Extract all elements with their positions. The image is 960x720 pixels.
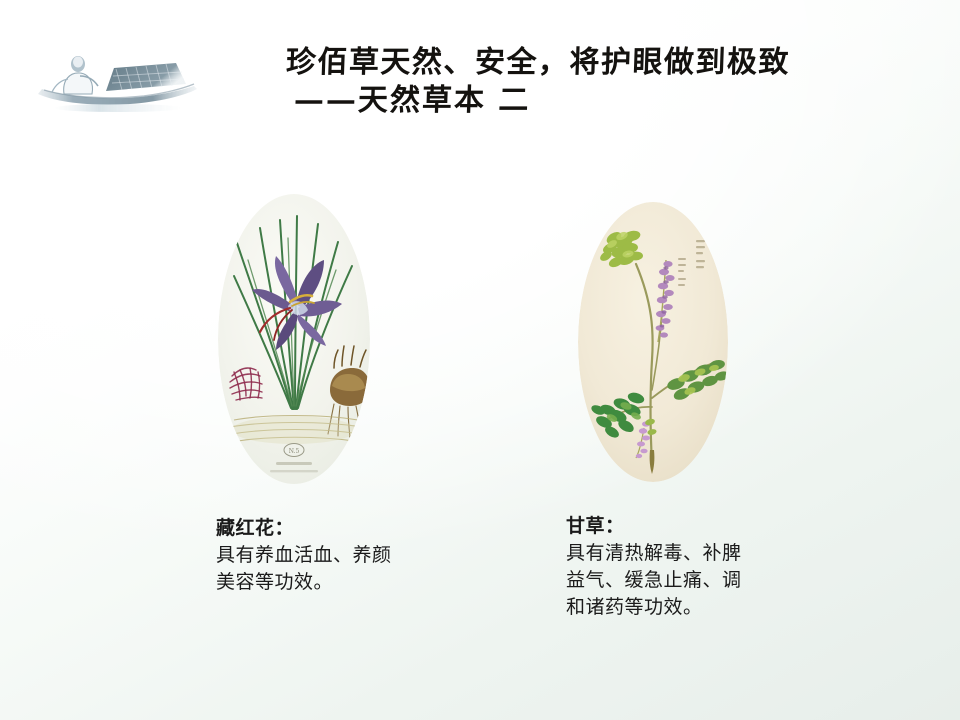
slide-canvas: 珍佰草天然、安全，将护眼做到极致 ——天然草本 二 xyxy=(0,0,960,720)
caption-saffron-title: 藏红花： xyxy=(216,514,466,542)
licorice-botanical-plate-image xyxy=(578,202,728,482)
saffron-botanical-plate-image: N.5 xyxy=(218,194,370,484)
svg-text:N.5: N.5 xyxy=(289,448,300,455)
slide-title: 珍佰草天然、安全，将护眼做到极致 ——天然草本 二 xyxy=(286,44,936,120)
caption-licorice-title: 甘草： xyxy=(566,512,816,540)
ink-wash-boat-icon xyxy=(34,46,200,112)
caption-licorice-body: 具有清热解毒、补脾 益气、缓急止痛、调 和诸药等功效。 xyxy=(566,540,816,621)
caption-saffron: 藏红花： 具有养血活血、养颜 美容等功效。 xyxy=(216,514,466,596)
title-line-1: 珍佰草天然、安全，将护眼做到极致 xyxy=(285,44,936,82)
title-line-2: ——天然草本 二 xyxy=(285,82,936,120)
caption-saffron-body: 具有养血活血、养颜 美容等功效。 xyxy=(216,542,466,596)
caption-licorice: 甘草： 具有清热解毒、补脾 益气、缓急止痛、调 和诸药等功效。 xyxy=(566,512,816,621)
